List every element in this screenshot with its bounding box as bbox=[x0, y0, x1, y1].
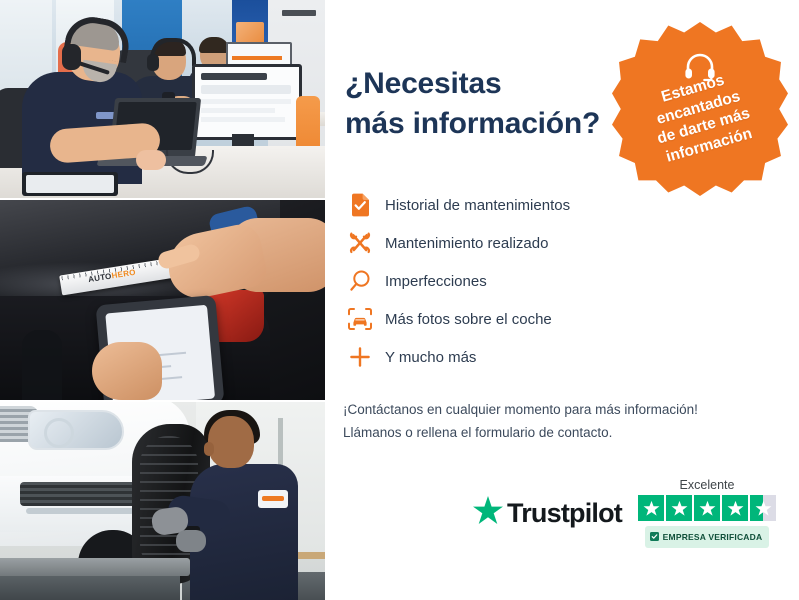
feature-item-historial: Historial de mantenimientos bbox=[343, 186, 683, 224]
star-filled-1 bbox=[638, 495, 664, 521]
mechanic-head bbox=[208, 416, 254, 468]
tool-cabinet-left bbox=[0, 576, 180, 600]
second-agent-headset-cup bbox=[147, 54, 159, 71]
star-filled-2 bbox=[666, 495, 692, 521]
background-person bbox=[22, 330, 62, 400]
document-check-icon bbox=[343, 193, 377, 217]
feature-item-fotos: Más fotos sobre el coche bbox=[343, 300, 683, 338]
photo-column: AUTOHERO bbox=[0, 0, 325, 600]
car-lift-platform bbox=[0, 558, 190, 576]
feature-label: Más fotos sobre el coche bbox=[385, 311, 552, 328]
trustpilot-widget[interactable]: Trustpilot Excelente bbox=[473, 478, 776, 548]
car-chrome-trim bbox=[26, 508, 134, 514]
feature-label: Historial de mantenimientos bbox=[385, 197, 570, 214]
star-filled-4 bbox=[722, 495, 748, 521]
trustpilot-star-icon bbox=[473, 496, 503, 530]
main-agent-hand bbox=[136, 150, 166, 170]
promo-banner: AUTOHERO bbox=[0, 0, 799, 600]
mechanic-glove-lower bbox=[176, 530, 206, 552]
call-center-agents-photo bbox=[0, 0, 325, 198]
verified-company-badge: EMPRESA VERIFICADA bbox=[645, 526, 770, 548]
feature-item-imperfecciones: Imperfecciones bbox=[343, 262, 683, 300]
crossed-wrenches-icon bbox=[343, 231, 377, 255]
feature-label: Imperfecciones bbox=[385, 273, 487, 290]
rating-label: Excelente bbox=[680, 478, 735, 492]
car-air-intake bbox=[20, 482, 140, 506]
content-panel: ¿Necesitas más información? Estamos enca… bbox=[325, 0, 799, 600]
feature-item-mantenimiento: Mantenimiento realizado bbox=[343, 224, 683, 262]
page-title: ¿Necesitas más información? bbox=[345, 64, 600, 144]
car-headlight bbox=[28, 410, 124, 450]
feature-list: Historial de mantenimientos M bbox=[343, 186, 683, 376]
mechanic-body bbox=[190, 464, 298, 600]
info-badge: Estamos encantados de darte más informac… bbox=[612, 22, 788, 196]
mechanic-logo-patch bbox=[258, 490, 288, 508]
contact-text: ¡Contáctanos en cualquier momento para m… bbox=[343, 398, 698, 444]
inspector-hand-lower bbox=[92, 342, 162, 400]
mechanic-ear bbox=[204, 442, 214, 456]
car-photo-frame-icon bbox=[343, 307, 377, 331]
magnifier-icon bbox=[343, 269, 377, 293]
trustpilot-logo: Trustpilot bbox=[473, 496, 622, 530]
main-agent-headset-cup bbox=[62, 44, 81, 70]
tyre-inspection-photo bbox=[0, 402, 325, 600]
third-person-hair bbox=[199, 37, 229, 53]
feature-label: Mantenimiento realizado bbox=[385, 235, 548, 252]
star-filled-3 bbox=[694, 495, 720, 521]
trustpilot-wordmark: Trustpilot bbox=[507, 498, 622, 529]
wall-stripe bbox=[282, 10, 316, 16]
feature-label: Y mucho más bbox=[385, 349, 476, 366]
star-half-5 bbox=[750, 495, 776, 521]
primary-monitor bbox=[192, 64, 302, 140]
feature-item-mas: Y mucho más bbox=[343, 338, 683, 376]
vehicle-inspection-photo: AUTOHERO bbox=[0, 198, 325, 401]
star-rating bbox=[638, 495, 776, 521]
desk-tablet bbox=[22, 172, 118, 196]
verified-label: EMPRESA VERIFICADA bbox=[663, 532, 763, 542]
trustpilot-rating: Excelente bbox=[638, 478, 776, 548]
verified-check-icon bbox=[650, 528, 659, 546]
plus-icon bbox=[343, 345, 377, 369]
